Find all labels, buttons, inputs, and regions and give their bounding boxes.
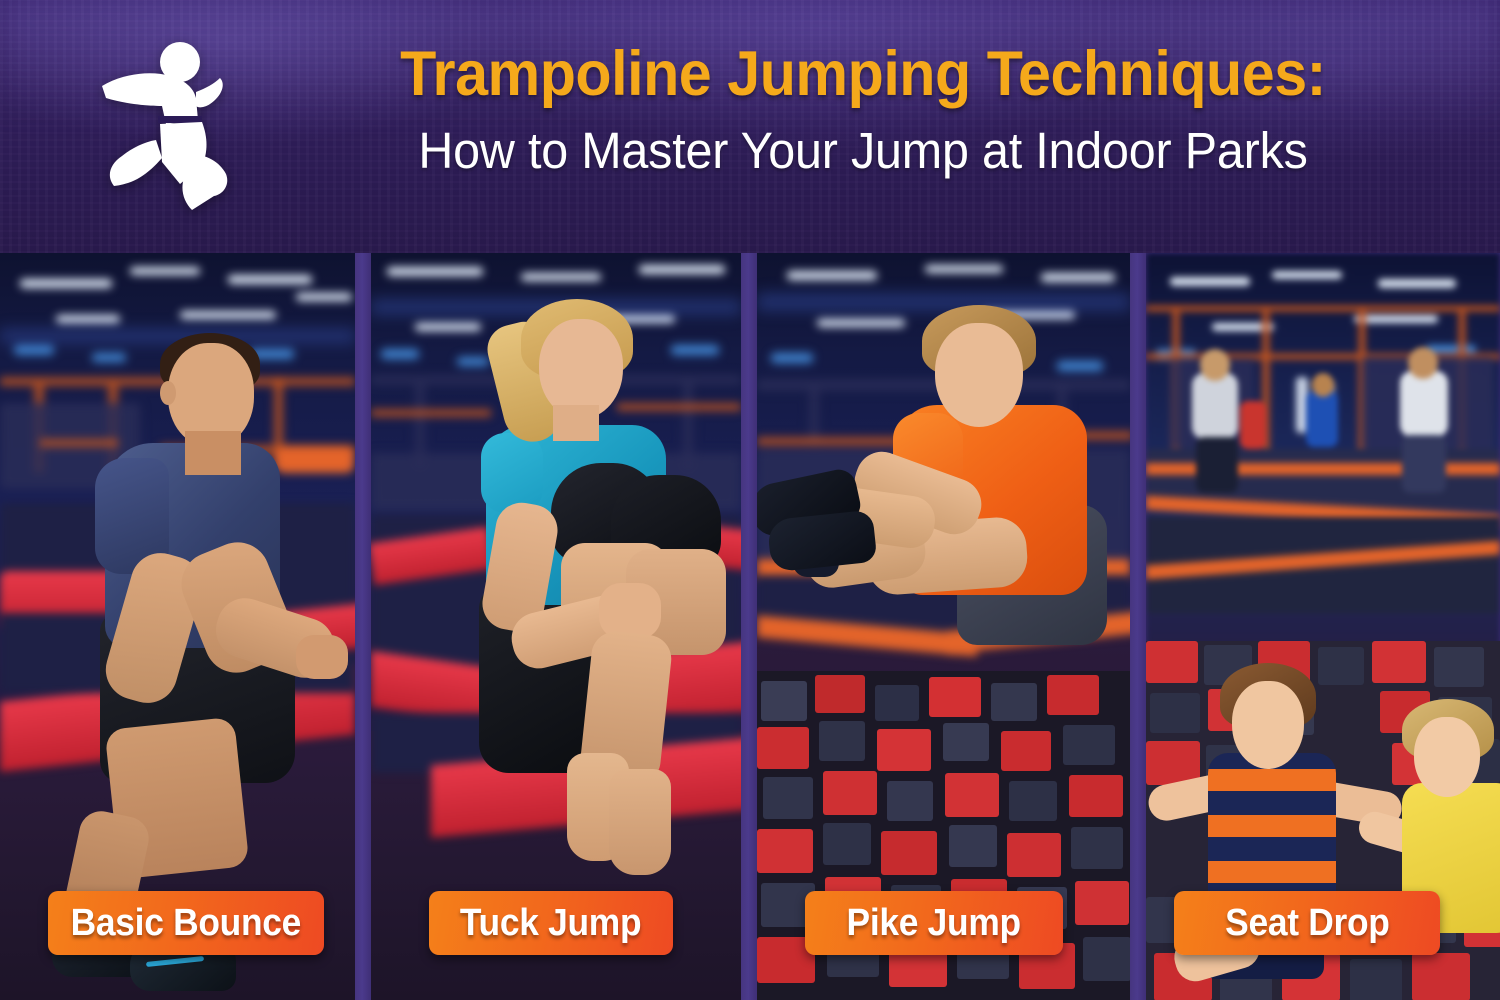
label-tuck-jump-text: Tuck Jump (460, 902, 641, 945)
page-title: Trampoline Jumping Techniques: (294, 42, 1431, 108)
label-seat-drop-text: Seat Drop (1225, 902, 1389, 945)
panel-divider-1 (355, 253, 371, 1000)
panel-pike-jump[interactable]: Pike Jump (757, 253, 1130, 1000)
panel-basic-bounce[interactable]: Basic Bounce (0, 253, 355, 1000)
header-banner: Trampoline Jumping Techniques: How to Ma… (0, 0, 1500, 253)
scene-tuck-jump (371, 253, 741, 1000)
label-basic-bounce-text: Basic Bounce (71, 902, 301, 945)
poster-root: Trampoline Jumping Techniques: How to Ma… (0, 0, 1500, 1000)
technique-panel-strip: Basic Bounce (0, 253, 1500, 1000)
panel-divider-2 (741, 253, 757, 1000)
label-pike-jump[interactable]: Pike Jump (805, 891, 1063, 955)
label-pike-jump-text: Pike Jump (847, 902, 1021, 945)
panel-seat-drop[interactable]: Seat Drop (1146, 253, 1500, 1000)
label-basic-bounce[interactable]: Basic Bounce (48, 891, 324, 955)
panel-tuck-jump[interactable]: Tuck Jump (371, 253, 741, 1000)
scene-seat-drop (1146, 253, 1500, 1000)
panel-divider-3 (1130, 253, 1146, 1000)
title-block: Trampoline Jumping Techniques: How to Ma… (258, 42, 1468, 177)
scene-pike-jump (757, 253, 1130, 1000)
label-tuck-jump[interactable]: Tuck Jump (429, 891, 673, 955)
jumping-person-icon (96, 34, 246, 214)
scene-basic-bounce (0, 253, 355, 1000)
arena-wide-view (1146, 253, 1500, 671)
label-seat-drop[interactable]: Seat Drop (1174, 891, 1440, 955)
page-subtitle: How to Master Your Jump at Indoor Parks (288, 124, 1438, 178)
